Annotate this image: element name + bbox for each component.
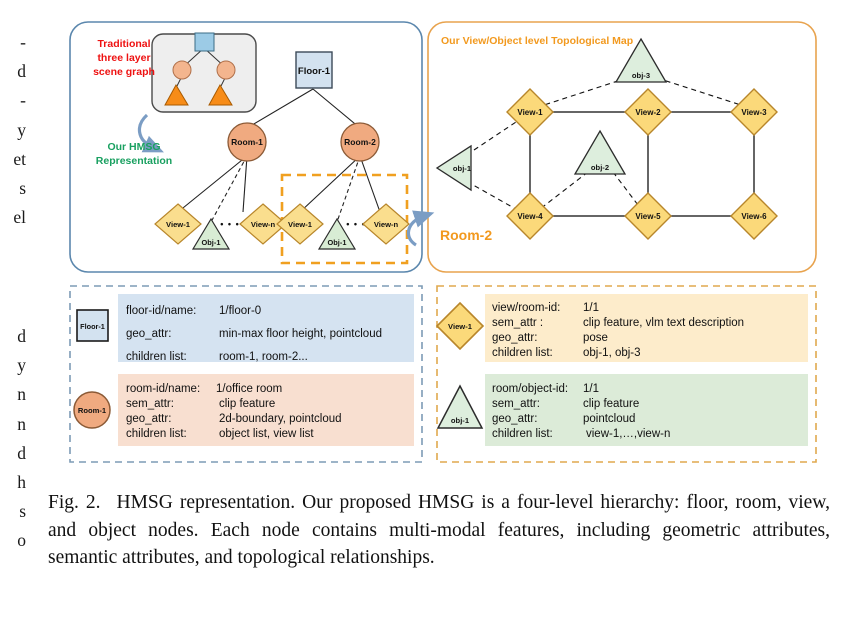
topo-node-label: View-2 (635, 108, 661, 117)
legend-value: 1/1 (583, 302, 599, 314)
legend-key: children list: (126, 351, 187, 363)
node-room-2-label: Room-2 (344, 137, 376, 147)
object-icon-label: obj-1 (451, 416, 470, 425)
legend-value: 1/floor-0 (219, 305, 261, 317)
legend-value: room-1, room-2... (219, 351, 308, 363)
legend-value: view-1,…,view-n (586, 428, 670, 440)
topo-node-label: obj-1 (453, 164, 472, 173)
legend-key: floor-id/name: (126, 305, 196, 317)
legend-key: room/object-id: (492, 383, 568, 395)
room2-callout-label: Room-2 (440, 227, 492, 243)
room-icon-label: Room-1 (78, 406, 107, 415)
legend-value: clip feature (583, 398, 639, 410)
legend-value: min-max floor height, pointcloud (219, 328, 382, 340)
view-icon-label: View-1 (448, 322, 473, 331)
legend-value: object list, view list (219, 428, 314, 440)
legend-value: pointcloud (583, 413, 635, 425)
svg-text:three layer: three layer (97, 52, 150, 64)
legend-key: sem_attr: (492, 398, 540, 410)
traditional-scene-graph-inset (152, 33, 256, 112)
legend-key: view/room-id: (492, 302, 560, 314)
ellipsis-room1: • • • (220, 219, 239, 229)
topological-map-panel: View-1 View-2 View-3 View-4 View-5 View-… (408, 22, 816, 272)
traditional-scene-graph-label: Traditional three layer scene graph (93, 38, 155, 78)
node-view-label: View-1 (288, 220, 313, 229)
figure-caption: Fig. 2.HMSG representation. Our proposed… (48, 489, 830, 572)
legend-value: clip feature, vlm text description (583, 317, 744, 329)
figure-number: Fig. 2. (48, 492, 101, 513)
node-room-1[interactable]: Room-1 (228, 123, 266, 161)
node-room-2[interactable]: Room-2 (341, 123, 379, 161)
node-object-label: Obj-1 (328, 238, 347, 247)
view-object-legend: View-1 view/room-id: 1/1 sem_attr : clip… (437, 286, 816, 462)
floor-icon-label: Floor-1 (80, 322, 105, 331)
node-floor-1-label: Floor-1 (298, 66, 331, 77)
view-diamond-icon: View-1 (437, 303, 483, 349)
topo-node-label: View-1 (517, 108, 543, 117)
legend-key: geo_attr: (126, 413, 171, 425)
svg-text:Representation: Representation (96, 155, 172, 167)
node-view-label: View-n (251, 220, 276, 229)
legend-value: clip feature (219, 398, 275, 410)
legend-key: geo_attr: (492, 332, 537, 344)
inset-root-node (195, 33, 214, 51)
figure-caption-text: HMSG representation. Our proposed HMSG i… (48, 492, 830, 568)
legend-key: sem_attr: (126, 398, 174, 410)
node-object-label: Obj-1 (202, 238, 221, 247)
topo-node-label: View-3 (741, 108, 767, 117)
legend-key: geo_attr: (492, 413, 537, 425)
legend-key: room-id/name: (126, 383, 200, 395)
legend-value: 2d-boundary, pointcloud (219, 413, 342, 425)
legend-value: pose (583, 332, 608, 344)
node-view-label: View-1 (166, 220, 191, 229)
legend-key: children list: (126, 428, 187, 440)
legend-value: 1/1 (583, 383, 599, 395)
topological-map-title: Our View/Object level Topological Map (441, 35, 633, 47)
legend-key: sem_attr : (492, 317, 543, 329)
legend-key: children list: (492, 347, 553, 359)
legend-value: obj-1, obj-3 (583, 347, 641, 359)
legend-key: geo_attr: (126, 328, 171, 340)
floor-room-legend: Floor-1 floor-id/name: 1/floor-0 geo_att… (70, 286, 422, 462)
room-circle-icon: Room-1 (74, 392, 110, 428)
inset-room-node (173, 61, 191, 79)
topo-node-label: obj-3 (632, 71, 650, 80)
node-room-1-label: Room-1 (231, 137, 263, 147)
floor-square-icon: Floor-1 (77, 310, 108, 341)
topo-node-label: View-5 (635, 212, 661, 221)
legend-value: 1/office room (216, 383, 282, 395)
topo-node-label: View-4 (517, 212, 543, 221)
legend-key: children list: (492, 428, 553, 440)
object-triangle-icon: obj-1 (438, 386, 482, 428)
svg-text:Traditional: Traditional (97, 38, 150, 50)
svg-text:Our HMSG: Our HMSG (107, 141, 160, 153)
svg-text:scene graph: scene graph (93, 66, 155, 78)
node-floor-1[interactable]: Floor-1 (296, 52, 332, 88)
inset-room-node (217, 61, 235, 79)
node-view-label: View-n (374, 220, 399, 229)
topo-node-label: View-6 (741, 212, 767, 221)
topo-node-label: obj-2 (591, 163, 609, 172)
